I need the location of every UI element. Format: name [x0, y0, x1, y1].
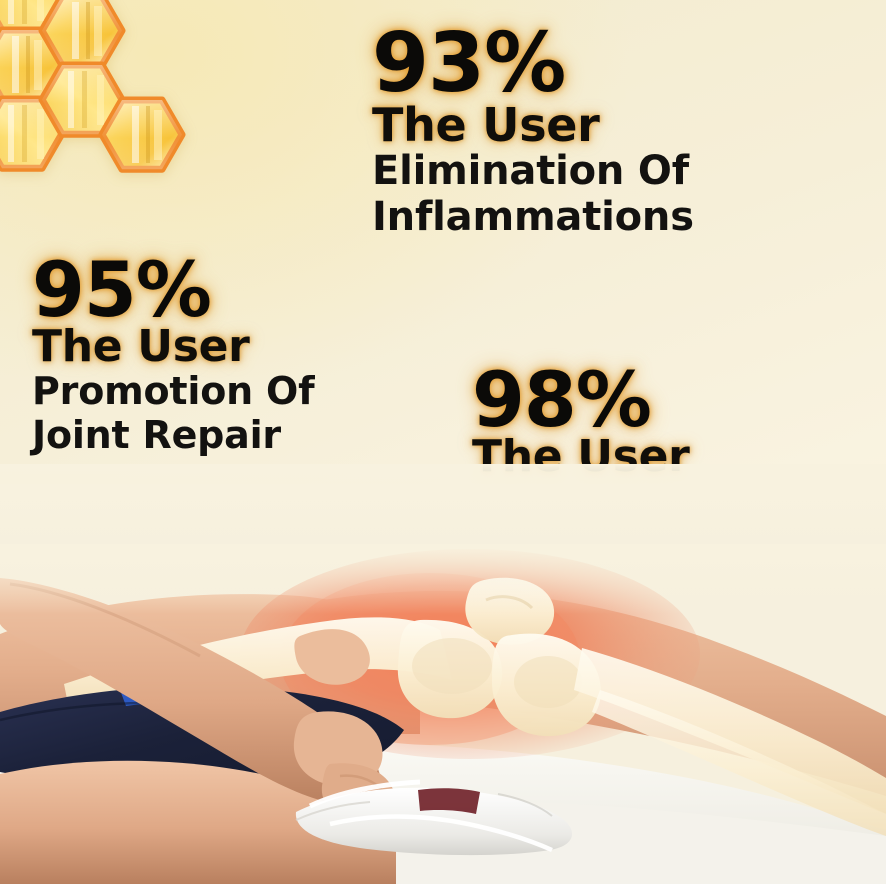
poster-canvas: 93% The User Elimination Of Inflammation…	[0, 0, 886, 884]
stat-98-user-line: The User	[472, 435, 690, 479]
stat-block-93: 93% The User Elimination Of Inflammation…	[372, 24, 694, 239]
stat-block-95: 95% The User Promotion Of Joint Repair	[32, 253, 314, 456]
stat-95-percent: 95%	[32, 253, 314, 327]
stat-95-desc-line-2: Joint Repair	[32, 415, 314, 456]
stat-93-desc-line-1: Elimination Of	[372, 150, 694, 193]
stat-93-user-line: The User	[372, 102, 694, 148]
photo-top-fade	[0, 544, 886, 614]
stat-98-percent: 98%	[472, 363, 690, 437]
stat-95-user-line: The User	[32, 325, 314, 369]
shoe-accent-stripe	[418, 788, 480, 814]
honeycomb-graphic	[0, 0, 238, 226]
knee-pain-photo	[0, 484, 886, 884]
stat-93-desc-line-2: Inflammations	[372, 196, 694, 239]
stat-93-percent: 93%	[372, 24, 694, 104]
stat-95-desc-line-1: Promotion Of	[32, 371, 314, 412]
